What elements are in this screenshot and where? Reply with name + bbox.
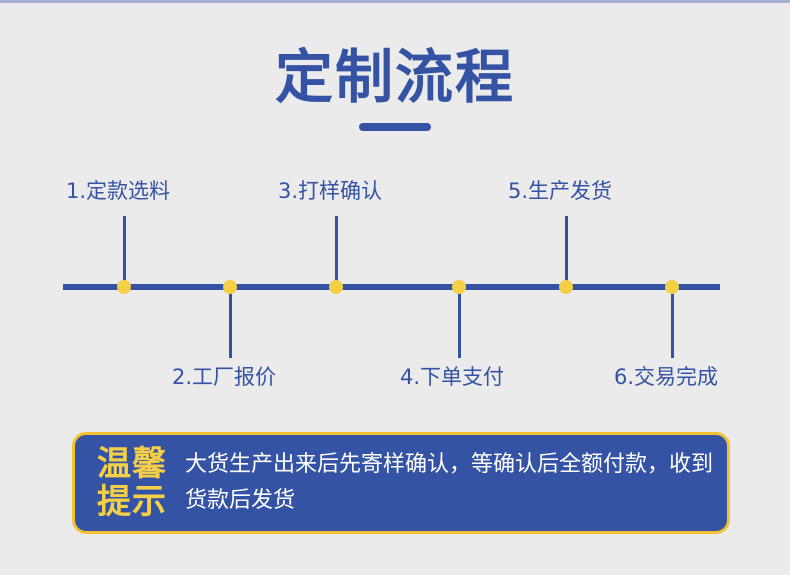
timeline-axis	[63, 284, 720, 290]
timeline-step-label-4: 4.下单支付	[400, 364, 504, 390]
timeline-step-label-3: 3.打样确认	[278, 178, 382, 204]
timeline-connector-2	[229, 287, 232, 358]
page-title: 定制流程	[0, 44, 790, 110]
timeline-node-6[interactable]	[665, 280, 679, 294]
title-underline	[359, 123, 431, 131]
title-block: 定制流程	[0, 44, 790, 131]
timeline-connector-1	[123, 216, 126, 287]
timeline-connector-3	[335, 216, 338, 287]
notice-tag-line2: 提示	[97, 483, 167, 521]
timeline-step-label-2: 2.工厂报价	[172, 364, 276, 390]
notice-box: 温馨 提示 大货生产出来后先寄样确认，等确认后全额付款，收到货款后发货	[72, 432, 730, 534]
timeline-connector-6	[671, 287, 674, 358]
timeline-step-label-1: 1.定款选料	[66, 178, 170, 204]
notice-tag-line1: 温馨	[97, 445, 167, 483]
timeline-node-2[interactable]	[223, 280, 237, 294]
timeline-connector-4	[458, 287, 461, 358]
timeline-step-label-6: 6.交易完成	[614, 364, 718, 390]
timeline-node-5[interactable]	[559, 280, 573, 294]
top-accent-strip	[0, 0, 790, 3]
notice-tag: 温馨 提示	[97, 445, 167, 521]
timeline-node-3[interactable]	[329, 280, 343, 294]
timeline-node-1[interactable]	[117, 280, 131, 294]
timeline-step-label-5: 5.生产发货	[508, 178, 612, 204]
notice-text: 大货生产出来后先寄样确认，等确认后全额付款，收到货款后发货	[185, 447, 715, 519]
timeline-node-4[interactable]	[452, 280, 466, 294]
timeline-connector-5	[565, 216, 568, 287]
